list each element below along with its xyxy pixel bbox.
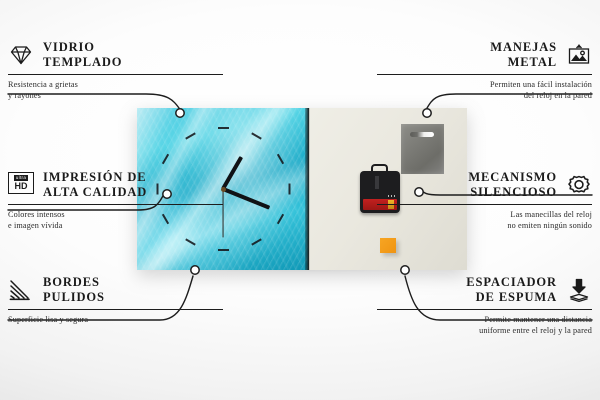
feature-description: Las manecillas del reloj no emiten ningú… <box>377 209 592 231</box>
feature-header: MECANISMO SILENCIOSO <box>377 170 592 200</box>
feature-mecanismo-silencioso: MECANISMO SILENCIOSO Las manecillas del … <box>377 170 592 231</box>
hanger-keyhole-slot <box>410 132 434 137</box>
ultra-hd-icon: ultra HD <box>8 172 34 198</box>
metal-hanger-plate <box>401 124 444 174</box>
feature-description: Permiten una fácil instalación del reloj… <box>377 79 592 101</box>
feature-header: MANEJAS METAL <box>377 40 592 70</box>
clock-marker <box>218 249 229 251</box>
feature-header: BORDES PULIDOS <box>8 275 223 305</box>
feature-header: ESPACIADOR DE ESPUMA <box>377 275 592 305</box>
ultra-hd-badge-main: HD <box>15 182 28 191</box>
feature-espaciador-espuma: ESPACIADOR DE ESPUMA Permite mantener un… <box>377 275 592 336</box>
feature-header: ultra HD IMPRESIÓN DE ALTA CALIDAD <box>8 170 223 200</box>
feature-description: Superficie lisa y segura <box>8 314 223 325</box>
clock-marker <box>218 127 229 129</box>
diamond-icon <box>8 42 34 68</box>
feature-title: MANEJAS METAL <box>490 40 557 70</box>
feature-divider <box>8 309 223 310</box>
feature-title: IMPRESIÓN DE ALTA CALIDAD <box>43 170 147 200</box>
feature-title: MECANISMO SILENCIOSO <box>468 170 557 200</box>
feature-header: VIDRIO TEMPLADO <box>8 40 223 70</box>
hanging-picture-frame-icon <box>566 42 592 68</box>
foam-spacer-block <box>380 238 396 253</box>
feature-bordes-pulidos: BORDES PULIDOS Superficie lisa y segura <box>8 275 223 325</box>
feature-divider <box>377 204 592 205</box>
clock-marker <box>288 184 290 195</box>
infographic-stage: VIDRIO TEMPLADO Resistencia a grietas y … <box>0 0 600 400</box>
polished-edges-icon <box>8 277 34 303</box>
feature-impresion-alta-calidad: ultra HD IMPRESIÓN DE ALTA CALIDAD Color… <box>8 170 223 231</box>
feature-title: VIDRIO TEMPLADO <box>43 40 122 70</box>
feature-description: Colores intensos e imagen vívida <box>8 209 223 231</box>
feature-description: Permite mantener una distancia uniforme … <box>377 314 592 336</box>
feature-divider <box>8 74 223 75</box>
feature-divider <box>8 204 223 205</box>
feature-description: Resistencia a grietas y rayones <box>8 79 223 101</box>
feature-divider <box>377 309 592 310</box>
ultra-hd-badge-small: ultra <box>14 175 28 181</box>
feature-title: BORDES PULIDOS <box>43 275 105 305</box>
feature-divider <box>377 74 592 75</box>
feature-title: ESPACIADOR DE ESPUMA <box>466 275 557 305</box>
gear-icon <box>566 172 592 198</box>
arrow-down-onto-stack-icon <box>566 277 592 303</box>
feature-manejas-metal: MANEJAS METAL Permiten una fácil instala… <box>377 40 592 101</box>
feature-vidrio-templado: VIDRIO TEMPLADO Resistencia a grietas y … <box>8 40 223 101</box>
